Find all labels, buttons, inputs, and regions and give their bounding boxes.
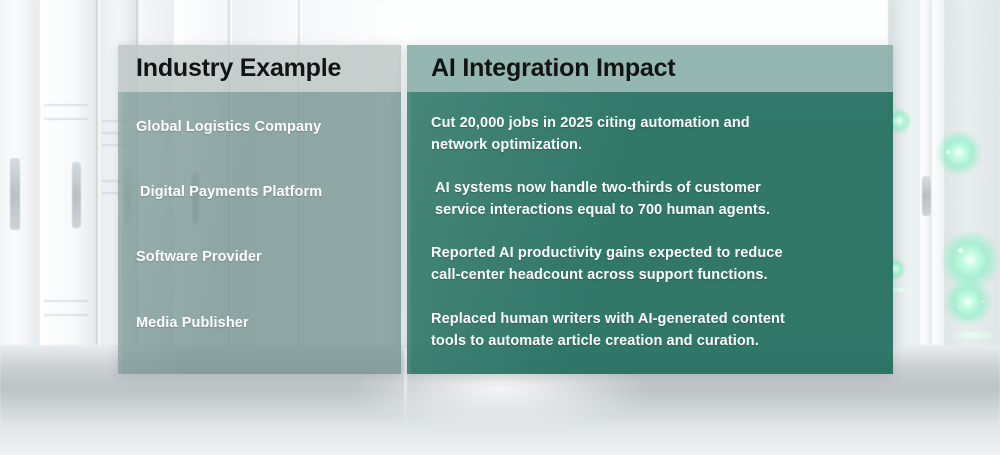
column-ai-integration-impact: AI Integration Impact Cut 20,000 jobs in… — [407, 45, 893, 374]
impact-line: network optimization. — [431, 134, 877, 156]
column-body-industry-example: Global Logistics Company Digital Payment… — [118, 92, 401, 374]
table-row: Replaced human writers with AI-generated… — [431, 308, 877, 352]
impact-line: AI systems now handle two-thirds of cust… — [435, 180, 761, 196]
column-body-ai-integration-impact: Cut 20,000 jobs in 2025 citing automatio… — [407, 92, 893, 374]
list-item: Digital Payments Platform — [140, 184, 387, 200]
impact-line: tools to automate article creation and c… — [431, 330, 877, 352]
column-header-industry-example: Industry Example — [118, 45, 401, 92]
column-header-ai-integration-impact: AI Integration Impact — [407, 45, 893, 92]
led-glow — [936, 130, 982, 176]
impact-line: Cut 20,000 jobs in 2025 citing automatio… — [431, 115, 750, 131]
list-item: Media Publisher — [136, 315, 387, 331]
table-row: Cut 20,000 jobs in 2025 citing automatio… — [431, 112, 877, 156]
impact-line: Replaced human writers with AI-generated… — [431, 311, 785, 327]
impact-line: call-center headcount across support fun… — [431, 264, 877, 286]
led-bar — [948, 332, 998, 338]
table-row: Reported AI productivity gains expected … — [431, 242, 877, 286]
table-row: AI systems now handle two-thirds of cust… — [435, 177, 877, 221]
list-item: Software Provider — [136, 249, 387, 265]
column-industry-example: Industry Example Global Logistics Compan… — [118, 45, 401, 374]
slide-canvas: Industry Example Global Logistics Compan… — [0, 0, 1000, 455]
column-header-label: AI Integration Impact — [431, 54, 675, 83]
impact-line: Reported AI productivity gains expected … — [431, 245, 783, 261]
column-header-label: Industry Example — [136, 54, 341, 83]
list-item: Global Logistics Company — [136, 119, 387, 135]
impact-line: service interactions equal to 700 human … — [435, 199, 877, 221]
